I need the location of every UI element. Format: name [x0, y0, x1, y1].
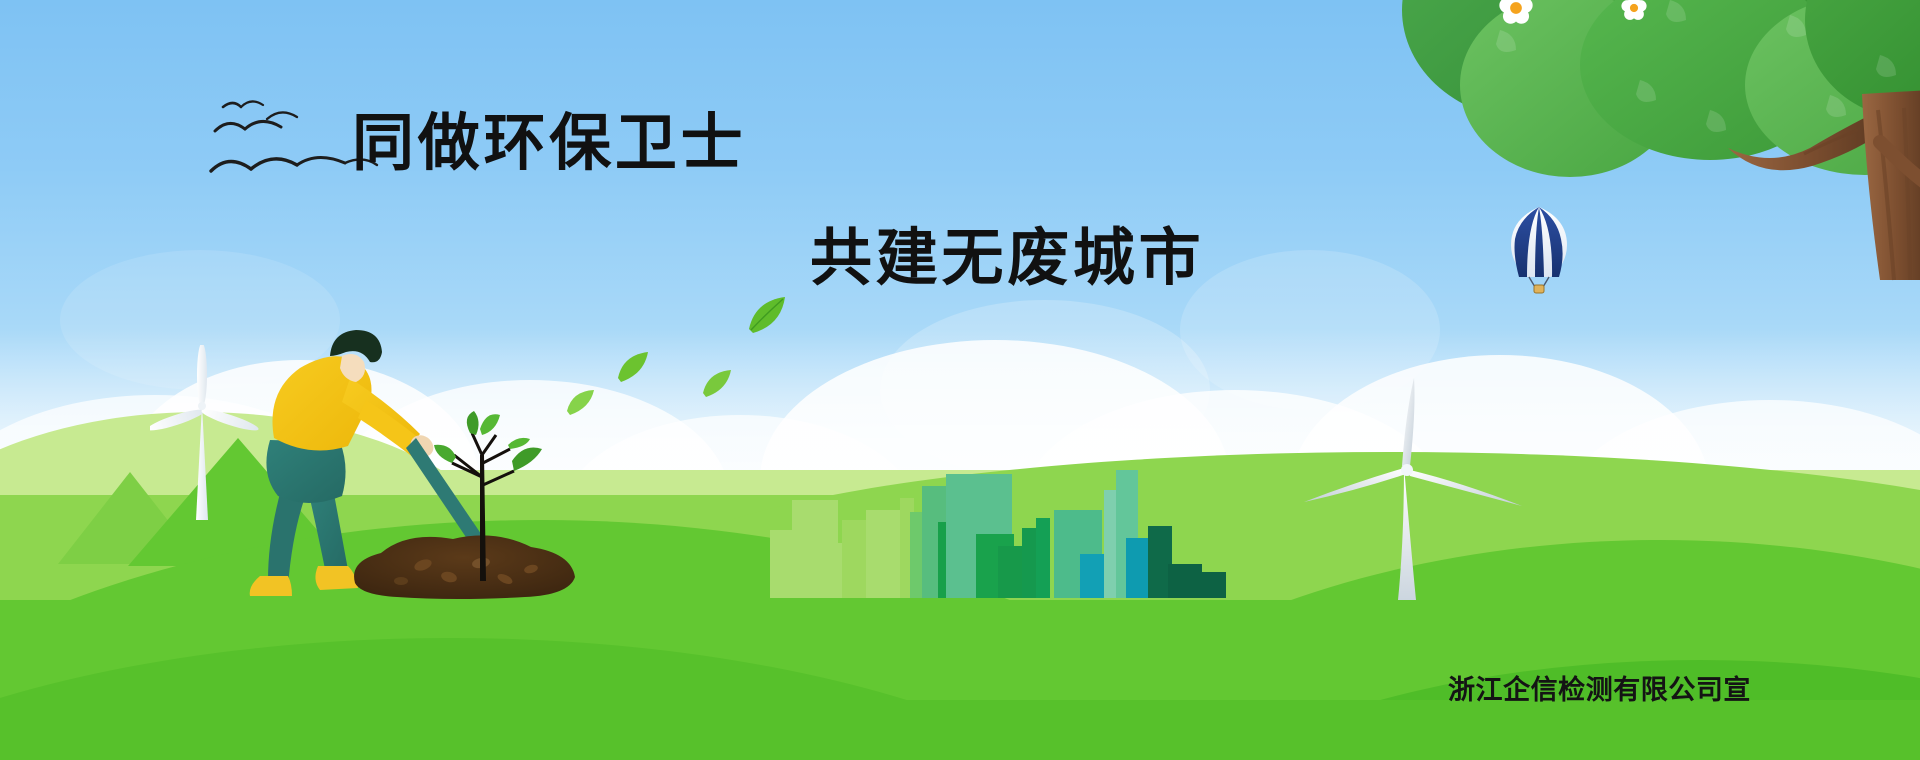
city-building — [792, 500, 838, 598]
company-signature: 浙江企信检测有限公司宣 — [1448, 668, 1751, 707]
blossom-tree — [1410, 0, 1920, 300]
wind-turbine-large — [1300, 370, 1530, 610]
poster-canvas: 同做环保卫士 共建无废城市 浙江企信检测有限公司宣 — [0, 0, 1920, 760]
city-building — [1196, 572, 1226, 598]
floating-leaf-4 — [565, 388, 597, 421]
headline-primary: 同做环保卫士 — [352, 92, 746, 182]
headline-secondary: 共建无废城市 — [810, 207, 1204, 297]
grass-bottom-strip — [0, 700, 1920, 760]
floating-leaf-3 — [700, 368, 734, 403]
floating-leaf-1 — [745, 295, 789, 340]
sapling-tree — [410, 385, 560, 585]
city-building — [1036, 518, 1050, 598]
floating-leaf-2 — [615, 350, 651, 389]
green-city-skyline — [770, 468, 1230, 598]
